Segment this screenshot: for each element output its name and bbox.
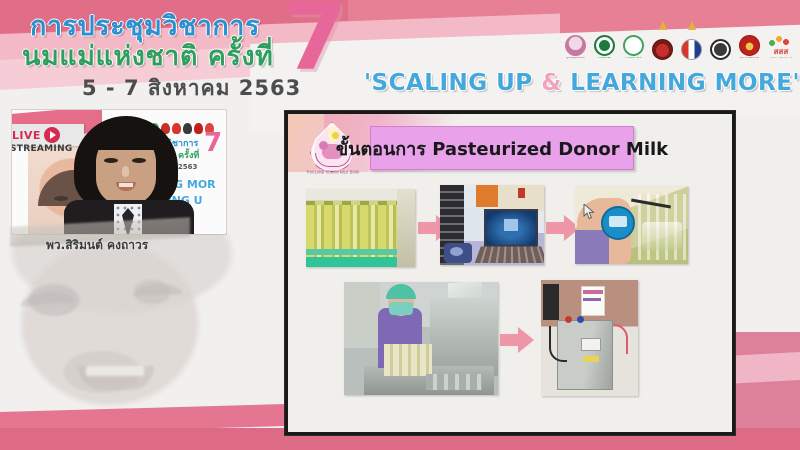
child-eye-left: [54, 196, 68, 201]
dark-wall-edge: [543, 284, 559, 320]
nursing-council-logo: สภาการพยาบาล: [737, 28, 762, 60]
purple-sleeve: [575, 230, 609, 264]
paper-card-1: [464, 207, 484, 241]
blue-knob: [577, 316, 584, 323]
event-date-range: 5 - 7 สิงหาคม 2563: [82, 72, 301, 105]
watermark-teeth: [86, 366, 144, 376]
thai-royal-foundation-logo: มูลนิธิศูนย์นมแม่: [563, 28, 588, 60]
laptop-keyboard: [475, 246, 544, 263]
logo-caption: มูลนิธิศูนย์นมแม่: [563, 57, 589, 60]
logo-badge: [565, 35, 586, 56]
logo-badge: [681, 39, 702, 60]
speaker-name-caption: พว.สิริมนต์ คงถาวร: [46, 236, 148, 255]
logo-badge: [594, 35, 615, 56]
presentation-slide-panel: THAILAND HUMAN MILK BANK ขั้นตอนการ Past…: [285, 111, 735, 435]
laminar-flow-hood: [430, 298, 498, 376]
logo-badge: [623, 35, 644, 56]
speaker-bangs: [92, 126, 160, 150]
mouse-pointer: [583, 204, 595, 220]
tagline-prefix: 'SCALING UP: [364, 70, 541, 96]
crown-icon: [659, 21, 667, 30]
live-badge-sublabel: STREAMING: [12, 144, 73, 154]
live-video-inset[interactable]: การประชุมวิชาการ นมแม่แห่งชาติ ครั้งที่ …: [12, 110, 226, 234]
milk-bottle: [642, 222, 682, 250]
cabinet: [344, 282, 380, 348]
baby-head-icon: [319, 141, 328, 150]
tagline-ampersand: &: [541, 70, 562, 96]
thaihealth-logo: สสส THAI HEALTH: [766, 28, 796, 60]
thaihealth-thai-text: สสส: [774, 48, 789, 56]
wall-sign-text-1: [583, 290, 603, 294]
speaker-eye-right: [132, 158, 146, 163]
red-hose: [614, 324, 628, 354]
royal-thai-army-logo: [679, 28, 704, 60]
department-of-health-logo: กรมสุขภาพจิต: [621, 28, 646, 60]
inset-slide-edition-number: 7: [204, 130, 222, 156]
black-hose: [549, 326, 567, 362]
speaker-nose: [122, 166, 129, 177]
red-marker: [518, 188, 525, 198]
arrow-shaft: [546, 222, 566, 234]
wall-sign-text-2: [583, 298, 601, 301]
arrow-shaft: [500, 334, 520, 346]
university-seal-logo: [708, 28, 733, 60]
thermometer-display: [609, 216, 627, 227]
royal-crest-logo: [650, 28, 675, 60]
watermark-eye-right: [134, 283, 182, 296]
speaker-teeth: [119, 183, 133, 187]
presentation-screen-capture: การประชุมวิชาการ นมแม่แห่งชาติ ครั้งที่ …: [0, 0, 800, 450]
speaker-figure: [70, 116, 186, 234]
event-tagline: 'SCALING UP & LEARNING MORE': [364, 70, 800, 96]
inset-logo-7: [194, 123, 203, 134]
sponsor-logo-strip: มูลนิธิศูนย์นมแม่ กรมอนามัย กรมสุขภาพจิต…: [563, 26, 795, 60]
milk-bottle-rack-photo: [306, 189, 415, 267]
logo-badge: [710, 39, 731, 60]
orange-wall-panel: [476, 185, 498, 207]
surgical-cap: [386, 284, 416, 299]
logo-caption: กรมอนามัย: [592, 57, 618, 60]
logo-badge: [739, 35, 760, 56]
live-badge-label: LIVE: [12, 129, 41, 142]
yellow-label: [583, 356, 599, 362]
logo-caption: สภาการพยาบาล: [737, 57, 763, 60]
process-arrow-3: [500, 327, 534, 353]
play-icon: [44, 127, 60, 143]
computer-mouse: [450, 247, 463, 256]
bottle-tray: [426, 374, 482, 390]
logo-caption: กรมสุขภาพจิต: [621, 57, 647, 60]
ministry-of-public-health-logo: กรมอนามัย: [592, 28, 617, 60]
nurse-loading-bottles-photo: [344, 282, 498, 395]
droplet-logo-caption: THAILAND HUMAN MILK BANK: [304, 169, 362, 175]
screen-icon: [504, 219, 518, 231]
surgical-mask: [389, 302, 413, 315]
logo-badge: [767, 34, 795, 48]
event-title-line-2: นมแม่แห่งชาติ ครั้งที่: [22, 34, 273, 77]
wall-edge: [397, 189, 415, 267]
milk-bottles-group: [384, 344, 432, 376]
watermark-eye-left: [20, 290, 75, 307]
thermometer-probe-photo: [575, 186, 688, 264]
speaker-eye-left: [104, 158, 118, 163]
laptop-data-entry-photo: [440, 185, 544, 265]
arrow-shaft: [418, 222, 438, 234]
tagline-suffix: LEARNING MORE': [562, 70, 800, 96]
logo-caption: THAI HEALTH: [768, 57, 794, 60]
logo-badge: [652, 39, 673, 60]
arrow-tip: [518, 327, 534, 353]
pasteurizer-machine-photo: [541, 280, 638, 396]
crown-icon: [688, 21, 696, 30]
slide-title: ขั้นตอนการ Pasteurized Donor Milk: [370, 126, 634, 170]
red-knob: [565, 316, 572, 323]
control-panel-display: [581, 338, 601, 351]
